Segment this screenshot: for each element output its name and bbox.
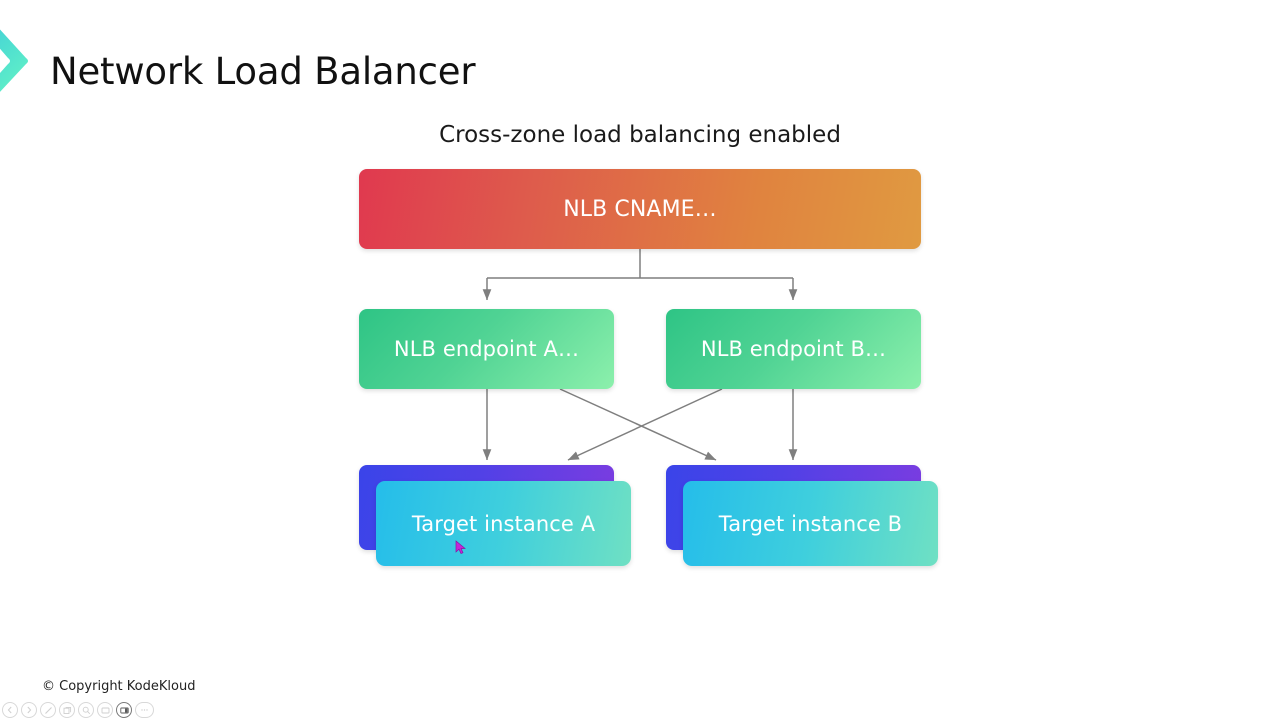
split-screen-icon[interactable] (116, 702, 132, 718)
edge-endpoint-a-to-target-b (560, 389, 716, 460)
copyright-text: © Copyright KodeKloud (42, 679, 195, 694)
node-nlb-endpoint-a[interactable]: NLB endpoint A… (359, 309, 614, 389)
node-nlb-cname[interactable]: NLB CNAME… (359, 169, 921, 249)
node-label: NLB CNAME… (563, 197, 717, 222)
mouse-cursor (455, 540, 467, 556)
edge-endpoint-b-to-target-a (568, 389, 722, 460)
previous-slide-icon[interactable] (2, 702, 18, 718)
pen-icon[interactable] (40, 702, 56, 718)
next-slide-icon[interactable] (21, 702, 37, 718)
slide-canvas: Network Load Balancer Cross-zone load ba… (0, 0, 1280, 720)
node-label: Target instance A (412, 512, 595, 536)
node-nlb-endpoint-b[interactable]: NLB endpoint B… (666, 309, 921, 389)
slide-toolbar (2, 702, 154, 718)
zoom-icon[interactable] (78, 702, 94, 718)
node-label: Target instance B (719, 512, 902, 536)
presentation-icon[interactable] (97, 702, 113, 718)
node-target-instance-b[interactable]: Target instance B (683, 481, 938, 566)
node-target-instance-a[interactable]: Target instance A (376, 481, 631, 566)
network-load-balancer-diagram: NLB CNAME… NLB endpoint A… NLB endpoint … (0, 0, 1280, 720)
copy-icon[interactable] (59, 702, 75, 718)
node-label: NLB endpoint A… (394, 337, 579, 361)
more-options-icon[interactable] (135, 702, 154, 718)
node-label: NLB endpoint B… (701, 337, 886, 361)
diagram-connectors (0, 0, 1280, 720)
